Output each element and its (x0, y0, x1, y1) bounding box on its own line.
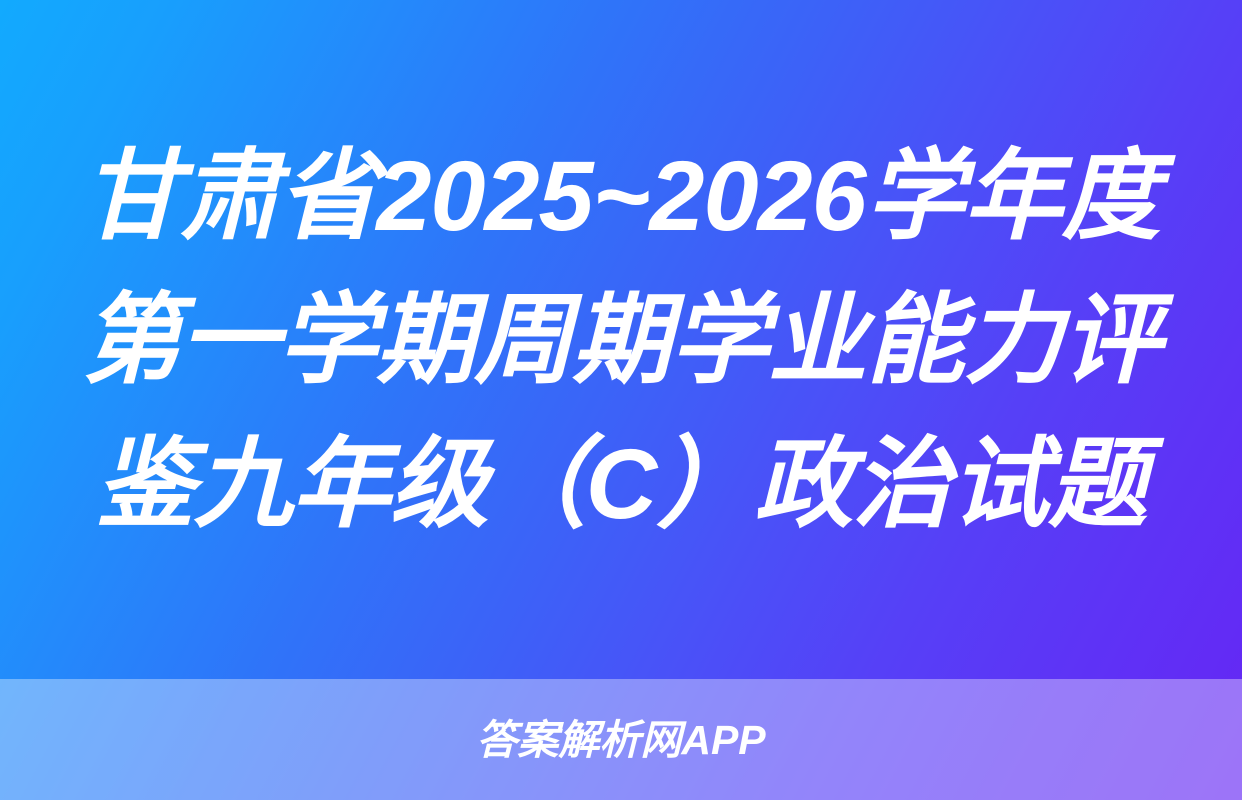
footer-watermark-band: 答案解析网APP (0, 679, 1242, 800)
title-block: 甘肃省2025~2026学年度第一学期周期学业能力评鉴九年级（C）政治试题 (0, 0, 1242, 679)
exam-cover-poster: 甘肃省2025~2026学年度第一学期周期学业能力评鉴九年级（C）政治试题 答案… (0, 0, 1242, 800)
page-title: 甘肃省2025~2026学年度第一学期周期学业能力评鉴九年级（C）政治试题 (76, 124, 1166, 556)
watermark-text: 答案解析网APP (476, 718, 765, 762)
